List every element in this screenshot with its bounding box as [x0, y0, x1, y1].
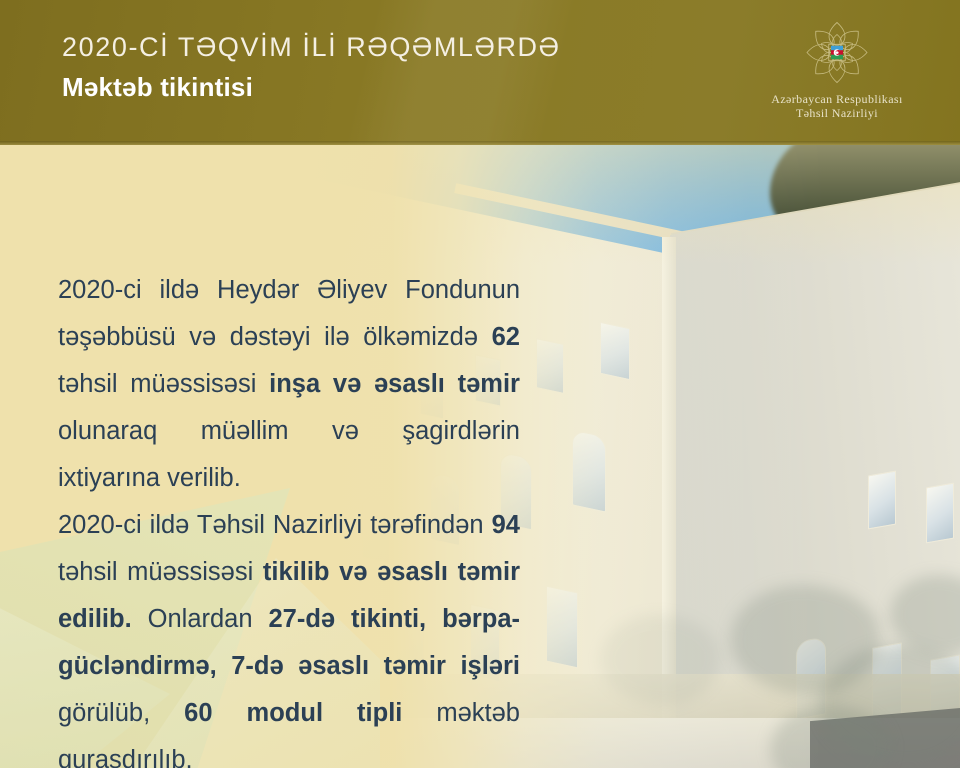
plain-text: 2020-ci ildə Təhsil Nazirliyi tərəfindən [58, 511, 492, 539]
ministry-logo: Azərbaycan Respublikası Təhsil Nazirliyi [742, 18, 932, 120]
emphasis-text: 94 [492, 511, 520, 539]
plain-text: görülüb, [58, 699, 184, 727]
infographic-poster: 2020-Cİ TƏQVİM İLİ RƏQƏMLƏRDƏ Məktəb tik… [0, 0, 960, 768]
header-titles: 2020-Cİ TƏQVİM İLİ RƏQƏMLƏRDƏ Məktəb tik… [62, 30, 561, 104]
poster-body: 2020-ci ildə Heydər Əliyev Fondunun təşə… [0, 145, 960, 768]
emphasis-text: 60 modul tipli [184, 699, 402, 727]
poster-title: Məktəb tikintisi [62, 70, 561, 104]
paragraph-1: 2020-ci ildə Heydər Əliyev Fondunun təşə… [58, 267, 520, 502]
header-bar: 2020-Cİ TƏQVİM İLİ RƏQƏMLƏRDƏ Məktəb tik… [0, 0, 960, 145]
ministry-logo-caption-line1: Azərbaycan Respublikası [742, 92, 932, 106]
plain-text: olunaraq müəllim və şagirdlərin ixtiyarı… [58, 417, 520, 492]
ministry-logo-caption-line2: Təhsil Nazirliyi [742, 106, 932, 120]
plain-text: təhsil müəssisəsi [58, 370, 269, 398]
ministry-logo-caption: Azərbaycan Respublikası Təhsil Nazirliyi [742, 92, 932, 120]
plain-text: təhsil müəssisəsi [58, 558, 263, 586]
ministry-emblem-icon [799, 18, 875, 90]
plain-text: 2020-ci ildə Heydər Əliyev Fondunun təşə… [58, 276, 520, 351]
emphasis-text: 62 [492, 323, 520, 351]
paragraph-2: 2020-ci ildə Təhsil Nazirliyi tərəfindən… [58, 502, 520, 768]
plain-text: Onlardan [132, 605, 269, 633]
emphasis-text: inşa və əsaslı təmir [269, 370, 520, 398]
poster-supertitle: 2020-Cİ TƏQVİM İLİ RƏQƏMLƏRDƏ [62, 30, 561, 64]
body-text: 2020-ci ildə Heydər Əliyev Fondunun təşə… [58, 267, 520, 768]
